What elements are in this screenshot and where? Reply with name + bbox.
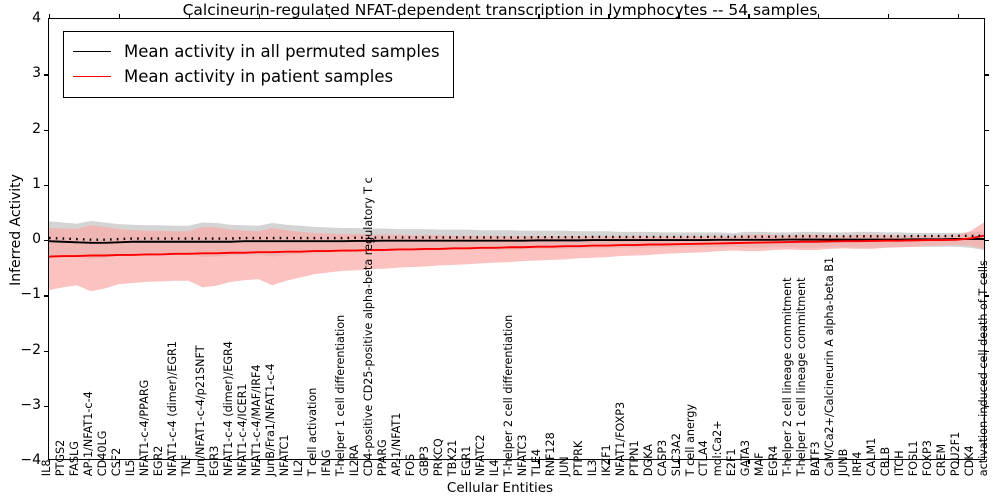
x-tick-mark — [678, 14, 679, 19]
x-tick-mark — [399, 14, 400, 19]
y-tick-mark — [984, 74, 989, 75]
x-tick-label: IL2 — [293, 459, 304, 476]
x-tick-mark — [189, 14, 190, 19]
x-tick-label: IL8 — [41, 459, 52, 476]
y-tick-label: −3 — [20, 397, 41, 413]
x-tick-mark — [189, 459, 190, 464]
x-tick-mark — [888, 14, 889, 19]
x-tick-mark — [608, 14, 609, 19]
y-tick-mark — [984, 185, 989, 186]
y-tick-label: −2 — [20, 342, 41, 358]
y-tick-mark — [984, 295, 989, 296]
x-tick-mark — [818, 14, 819, 19]
x-tick-mark — [678, 459, 679, 464]
x-tick-mark — [608, 459, 609, 464]
x-tick-mark — [958, 459, 959, 464]
x-tick-label: IL5 — [125, 459, 136, 476]
x-tick-mark — [49, 459, 50, 464]
x-tick-mark — [888, 459, 889, 464]
y-tick-mark — [44, 185, 49, 186]
x-tick-label: IL4 — [489, 459, 500, 476]
legend-item-patient: Mean activity in patient samples — [73, 64, 440, 89]
x-tick-mark — [119, 459, 120, 464]
y-tick-mark — [984, 130, 989, 131]
x-tick-label: IL3 — [586, 459, 597, 476]
x-tick-mark — [259, 459, 260, 464]
legend-label-permuted: Mean activity in all permuted samples — [124, 42, 440, 61]
y-tick-mark — [44, 351, 49, 352]
x-tick-mark — [818, 459, 819, 464]
y-tick-mark — [984, 406, 989, 407]
x-tick-mark — [49, 14, 50, 19]
y-tick-label: −4 — [20, 452, 41, 468]
y-tick-label: 3 — [32, 65, 41, 81]
x-tick-mark — [469, 14, 470, 19]
y-tick-label: 1 — [32, 176, 41, 192]
confidence-bands — [49, 221, 984, 291]
legend-swatch-permuted — [73, 51, 111, 52]
chart-figure: Calcineurin-regulated NFAT-dependent tra… — [0, 0, 1000, 500]
x-tick-mark — [958, 14, 959, 19]
x-axis-label: Cellular Entities — [0, 480, 1000, 496]
chart-legend: Mean activity in all permuted samples Me… — [63, 31, 454, 98]
x-tick-mark — [748, 459, 749, 464]
y-tick-label: 4 — [32, 10, 41, 26]
chart-title: Calcineurin-regulated NFAT-dependent tra… — [0, 1, 1000, 19]
y-tick-label: 2 — [32, 121, 41, 137]
y-tick-mark — [44, 406, 49, 407]
legend-item-permuted: Mean activity in all permuted samples — [73, 39, 440, 64]
x-tick-mark — [538, 459, 539, 464]
x-tick-mark — [748, 14, 749, 19]
y-tick-mark — [984, 240, 989, 241]
x-tick-mark — [329, 459, 330, 464]
y-tick-mark — [44, 240, 49, 241]
x-tick-mark — [119, 14, 120, 19]
y-tick-mark — [44, 130, 49, 131]
y-tick-mark — [984, 351, 989, 352]
y-tick-label: 0 — [32, 231, 41, 247]
y-tick-label: −1 — [20, 286, 41, 302]
legend-swatch-patient — [73, 76, 111, 77]
x-tick-mark — [329, 14, 330, 19]
y-tick-mark — [44, 295, 49, 296]
x-tick-mark — [399, 459, 400, 464]
x-tick-mark — [469, 459, 470, 464]
x-tick-mark — [259, 14, 260, 19]
x-tick-mark — [538, 14, 539, 19]
y-tick-mark — [44, 74, 49, 75]
legend-label-patient: Mean activity in patient samples — [124, 67, 393, 86]
